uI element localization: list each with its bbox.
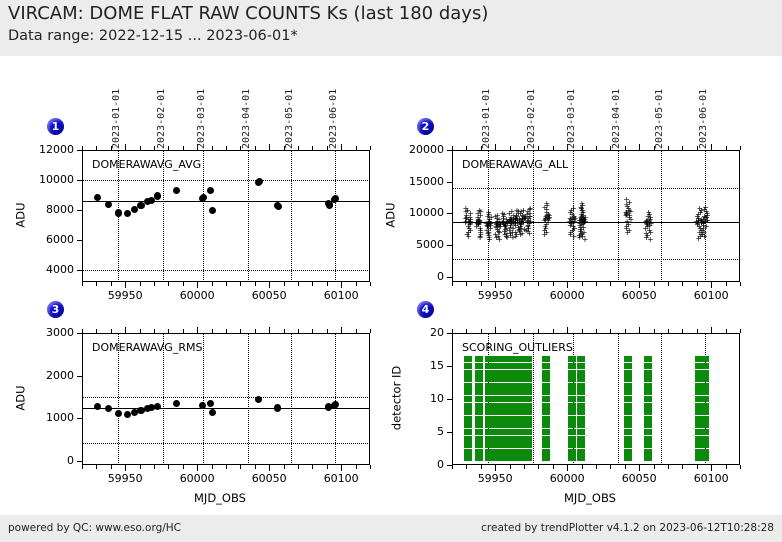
outlier-marker bbox=[485, 403, 493, 409]
outlier-marker bbox=[464, 442, 472, 448]
outlier-marker bbox=[542, 455, 550, 461]
outlier-marker bbox=[524, 370, 532, 376]
y-tick-label: 0 bbox=[392, 458, 444, 471]
outlier-marker bbox=[485, 436, 493, 442]
outlier-marker bbox=[464, 370, 472, 376]
outlier-marker bbox=[485, 389, 493, 395]
outlier-marker bbox=[701, 376, 709, 382]
outlier-marker bbox=[568, 422, 576, 428]
outlier-marker bbox=[577, 422, 585, 428]
outlier-marker bbox=[524, 436, 532, 442]
outlier-marker bbox=[542, 389, 550, 395]
outlier-marker bbox=[577, 429, 585, 435]
outlier-marker bbox=[701, 383, 709, 389]
panel-badge-4[interactable]: 4 bbox=[417, 301, 434, 318]
x-tick-mark bbox=[495, 465, 496, 471]
outlier-marker bbox=[644, 422, 652, 428]
y-axis-label-4: detector ID bbox=[389, 355, 403, 442]
outlier-marker bbox=[577, 403, 585, 409]
x-tick-mark bbox=[452, 465, 453, 469]
outlier-marker bbox=[485, 442, 493, 448]
outlier-marker bbox=[644, 455, 652, 461]
outlier-marker bbox=[485, 449, 493, 455]
outlier-marker bbox=[524, 403, 532, 409]
outlier-marker bbox=[644, 376, 652, 382]
outlier-marker bbox=[624, 455, 632, 461]
outlier-marker bbox=[701, 455, 709, 461]
outlier-marker bbox=[577, 356, 585, 362]
outlier-marker bbox=[475, 442, 483, 448]
x-tick-mark bbox=[553, 465, 554, 469]
x-tick-mark bbox=[625, 465, 626, 469]
outlier-marker bbox=[524, 442, 532, 448]
outlier-marker bbox=[624, 363, 632, 369]
x-tick-mark-top bbox=[740, 329, 741, 333]
outlier-marker bbox=[701, 449, 709, 455]
outlier-marker bbox=[568, 455, 576, 461]
outlier-marker bbox=[624, 409, 632, 415]
outlier-marker bbox=[577, 436, 585, 442]
outlier-marker bbox=[524, 376, 532, 382]
outlier-marker bbox=[475, 383, 483, 389]
outlier-marker bbox=[485, 416, 493, 422]
outlier-marker bbox=[464, 422, 472, 428]
x-tick-mark bbox=[610, 465, 611, 469]
outlier-marker bbox=[568, 363, 576, 369]
outlier-marker bbox=[568, 403, 576, 409]
outlier-marker bbox=[701, 403, 709, 409]
outlier-marker bbox=[701, 429, 709, 435]
outlier-marker bbox=[577, 455, 585, 461]
trend-plotter-page: VIRCAM: DOME FLAT RAW COUNTS Ks (last 18… bbox=[0, 0, 782, 542]
outlier-marker bbox=[644, 403, 652, 409]
outlier-marker bbox=[644, 396, 652, 402]
outlier-marker bbox=[485, 376, 493, 382]
outlier-marker bbox=[577, 416, 585, 422]
outlier-marker bbox=[624, 422, 632, 428]
outlier-marker bbox=[624, 442, 632, 448]
outlier-marker bbox=[475, 389, 483, 395]
outlier-marker bbox=[624, 376, 632, 382]
outlier-marker bbox=[542, 396, 550, 402]
outlier-marker bbox=[485, 396, 493, 402]
outlier-marker bbox=[524, 396, 532, 402]
outlier-marker bbox=[577, 370, 585, 376]
outlier-marker bbox=[577, 389, 585, 395]
outlier-marker bbox=[568, 429, 576, 435]
outlier-marker bbox=[701, 436, 709, 442]
outlier-marker bbox=[577, 409, 585, 415]
outlier-marker bbox=[524, 383, 532, 389]
x-tick-mark bbox=[524, 465, 525, 469]
outlier-marker bbox=[485, 455, 493, 461]
outlier-marker bbox=[577, 396, 585, 402]
outlier-marker bbox=[464, 416, 472, 422]
x-tick-mark bbox=[567, 465, 568, 471]
data-layer-4 bbox=[452, 333, 740, 465]
outlier-marker bbox=[568, 442, 576, 448]
outlier-marker bbox=[577, 363, 585, 369]
outlier-marker bbox=[644, 363, 652, 369]
outlier-marker bbox=[475, 436, 483, 442]
x-tick-mark bbox=[538, 465, 539, 469]
outlier-marker bbox=[475, 370, 483, 376]
x-tick-mark bbox=[668, 465, 669, 469]
x-tick-mark bbox=[740, 465, 741, 469]
outlier-marker bbox=[464, 363, 472, 369]
outlier-marker bbox=[524, 429, 532, 435]
outlier-marker bbox=[644, 389, 652, 395]
outlier-marker bbox=[644, 409, 652, 415]
outlier-marker bbox=[524, 389, 532, 395]
outlier-marker bbox=[464, 403, 472, 409]
outlier-marker bbox=[624, 389, 632, 395]
outlier-marker bbox=[464, 449, 472, 455]
outlier-marker bbox=[624, 416, 632, 422]
outlier-marker bbox=[542, 429, 550, 435]
outlier-marker bbox=[577, 449, 585, 455]
outlier-marker bbox=[485, 409, 493, 415]
outlier-marker bbox=[701, 416, 709, 422]
outlier-marker bbox=[624, 429, 632, 435]
outlier-marker bbox=[568, 436, 576, 442]
outlier-marker bbox=[485, 429, 493, 435]
outlier-marker bbox=[568, 409, 576, 415]
outlier-marker bbox=[577, 442, 585, 448]
outlier-marker bbox=[568, 396, 576, 402]
outlier-marker bbox=[524, 409, 532, 415]
x-tick-mark bbox=[582, 465, 583, 469]
x-tick-mark bbox=[711, 465, 712, 471]
outlier-marker bbox=[701, 442, 709, 448]
outlier-marker bbox=[701, 422, 709, 428]
outlier-marker bbox=[568, 416, 576, 422]
outlier-marker bbox=[475, 422, 483, 428]
outlier-marker bbox=[485, 356, 493, 362]
x-tick-mark bbox=[466, 465, 467, 469]
outlier-marker bbox=[475, 376, 483, 382]
outlier-marker bbox=[624, 436, 632, 442]
outlier-marker bbox=[644, 383, 652, 389]
outlier-marker bbox=[568, 356, 576, 362]
outlier-marker bbox=[644, 356, 652, 362]
outlier-marker bbox=[464, 376, 472, 382]
outlier-marker bbox=[542, 383, 550, 389]
outlier-marker bbox=[644, 429, 652, 435]
outlier-marker bbox=[475, 356, 483, 362]
outlier-marker bbox=[577, 383, 585, 389]
x-tick-mark bbox=[510, 465, 511, 469]
outlier-marker bbox=[624, 396, 632, 402]
outlier-marker bbox=[524, 455, 532, 461]
panel-4: 40510152059950600006005060100SCORING_OUT… bbox=[0, 0, 782, 542]
outlier-marker bbox=[568, 376, 576, 382]
outlier-marker bbox=[475, 429, 483, 435]
outlier-marker bbox=[524, 356, 532, 362]
outlier-marker bbox=[701, 409, 709, 415]
outlier-marker bbox=[464, 455, 472, 461]
outlier-marker bbox=[542, 356, 550, 362]
x-tick-mark bbox=[697, 465, 698, 469]
outlier-marker bbox=[568, 449, 576, 455]
x-tick-mark bbox=[726, 465, 727, 469]
outlier-marker bbox=[485, 383, 493, 389]
outlier-marker bbox=[475, 396, 483, 402]
outlier-marker bbox=[524, 416, 532, 422]
outlier-marker bbox=[644, 416, 652, 422]
outlier-marker bbox=[701, 363, 709, 369]
outlier-marker bbox=[568, 389, 576, 395]
outlier-marker bbox=[524, 449, 532, 455]
outlier-marker bbox=[542, 409, 550, 415]
outlier-marker bbox=[464, 429, 472, 435]
y-tick-label: 20 bbox=[392, 326, 444, 339]
outlier-marker bbox=[568, 383, 576, 389]
x-tick-mark bbox=[481, 465, 482, 469]
outlier-marker bbox=[644, 449, 652, 455]
outlier-marker bbox=[624, 356, 632, 362]
x-tick-mark bbox=[639, 465, 640, 471]
outlier-marker bbox=[542, 442, 550, 448]
x-tick-label: 59950 bbox=[465, 472, 525, 485]
x-tick-label: 60000 bbox=[537, 472, 597, 485]
outlier-marker bbox=[524, 422, 532, 428]
outlier-marker bbox=[542, 422, 550, 428]
x-tick-label: 60050 bbox=[609, 472, 669, 485]
outlier-marker bbox=[701, 370, 709, 376]
outlier-marker bbox=[475, 416, 483, 422]
outlier-marker bbox=[475, 449, 483, 455]
outlier-marker bbox=[644, 370, 652, 376]
outlier-marker bbox=[577, 376, 585, 382]
x-tick-label: 60100 bbox=[681, 472, 741, 485]
outlier-marker bbox=[624, 383, 632, 389]
outlier-marker bbox=[568, 370, 576, 376]
outlier-marker bbox=[464, 409, 472, 415]
outlier-marker bbox=[464, 383, 472, 389]
outlier-marker bbox=[464, 396, 472, 402]
outlier-marker bbox=[542, 416, 550, 422]
outlier-marker bbox=[701, 356, 709, 362]
outlier-marker bbox=[701, 396, 709, 402]
outlier-marker bbox=[464, 436, 472, 442]
outlier-marker bbox=[485, 370, 493, 376]
outlier-marker bbox=[524, 363, 532, 369]
x-tick-mark bbox=[596, 465, 597, 469]
outlier-marker bbox=[542, 363, 550, 369]
outlier-marker bbox=[485, 363, 493, 369]
outlier-marker bbox=[644, 436, 652, 442]
outlier-marker bbox=[475, 409, 483, 415]
x-axis-label-4: MJD_OBS bbox=[564, 491, 616, 505]
outlier-marker bbox=[464, 356, 472, 362]
outlier-marker bbox=[542, 370, 550, 376]
outlier-marker bbox=[701, 389, 709, 395]
outlier-marker bbox=[542, 376, 550, 382]
outlier-marker bbox=[475, 455, 483, 461]
outlier-marker bbox=[644, 442, 652, 448]
outlier-marker bbox=[624, 449, 632, 455]
outlier-marker bbox=[624, 403, 632, 409]
outlier-marker bbox=[464, 389, 472, 395]
outlier-marker bbox=[624, 370, 632, 376]
outlier-marker bbox=[475, 403, 483, 409]
outlier-marker bbox=[542, 436, 550, 442]
outlier-marker bbox=[542, 449, 550, 455]
x-tick-mark bbox=[682, 465, 683, 469]
outlier-marker bbox=[475, 363, 483, 369]
outlier-marker bbox=[485, 422, 493, 428]
x-tick-mark bbox=[654, 465, 655, 469]
outlier-marker bbox=[542, 403, 550, 409]
